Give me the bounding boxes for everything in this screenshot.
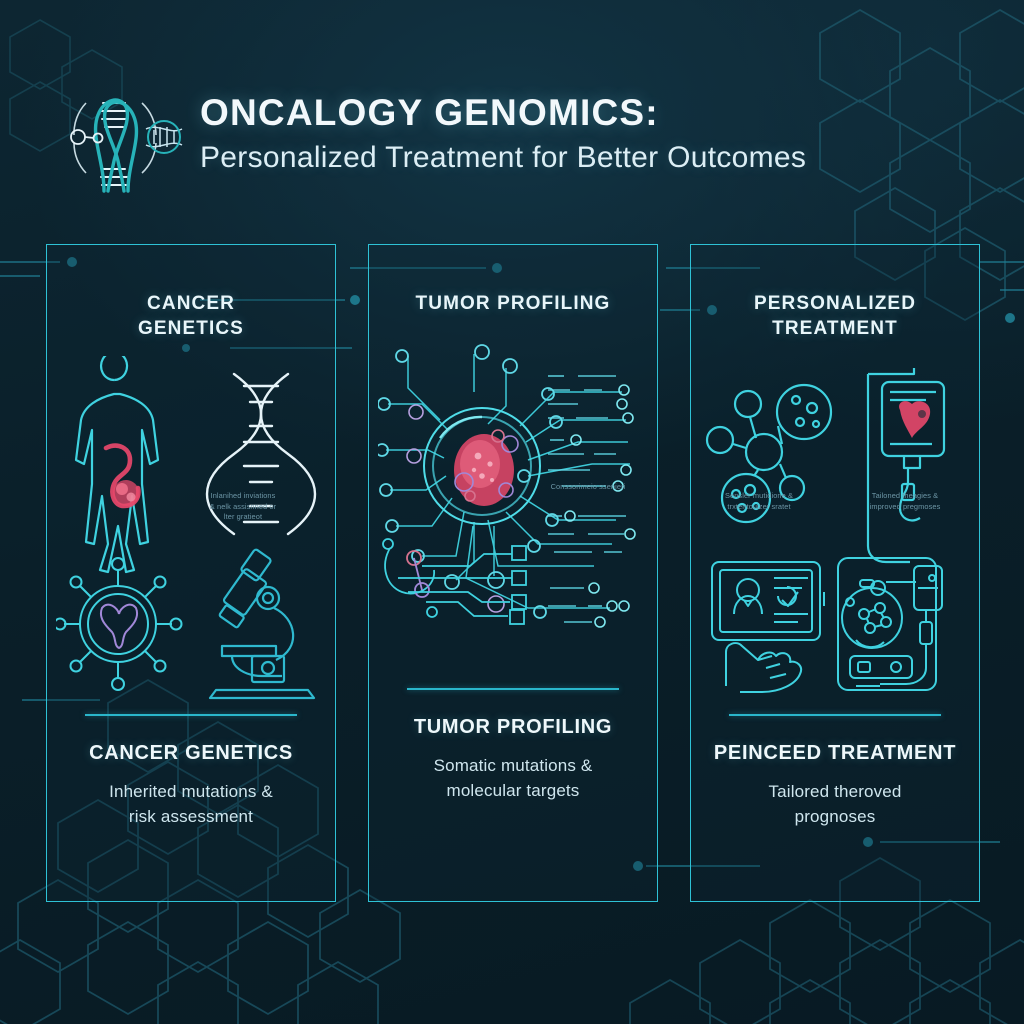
micro-caption-tumor-profiling: Conssorimeio ssenieri xyxy=(528,482,648,493)
iv-bag-fluid-shape xyxy=(899,401,930,438)
caption-body-cancer-genetics: Inherited mutations & risk assessment xyxy=(109,780,273,829)
page-title: ONCALOGY GENOMICS: xyxy=(200,94,806,133)
telemedicine-tablet-icon xyxy=(712,562,824,692)
micro-caption-cancer-genetics: Inlanihed inviations & nelk assisnned or… xyxy=(178,491,308,523)
title-block: ONCALOGY GENOMICS: Personalized Treatmen… xyxy=(200,94,806,181)
panel-tumor-profiling[interactable]: TUMOR PROFILING xyxy=(368,244,658,902)
stomach-tumor-shape xyxy=(106,446,139,506)
panel-header-cancer-genetics: CANCER GENETICS xyxy=(138,291,244,342)
caption-title-personalized-treatment: PEINCEED TREATMENT xyxy=(714,742,956,765)
panel-divider xyxy=(729,714,941,716)
header: ONCALOGY GENOMICS: Personalized Treatmen… xyxy=(0,72,1024,202)
caption-title-tumor-profiling: TUMOR PROFILING xyxy=(414,716,612,739)
micro-caption-right-personalized: Tailoned theagies & improved pregmoses xyxy=(840,491,970,512)
infusion-device-icon xyxy=(838,558,942,690)
iv-drip-bag-icon xyxy=(868,368,944,562)
panel-header-personalized-treatment: PERSONALIZED TREATMENT xyxy=(754,291,916,342)
panel-header-line-2: TREATMENT xyxy=(754,316,916,341)
panel-personalized-treatment[interactable]: PERSONALIZED TREATMENT xyxy=(690,244,980,902)
cancer-ribbon-dna-logo xyxy=(46,81,186,193)
caption-title-cancer-genetics: CANCER GENETICS xyxy=(89,742,293,765)
panel-divider xyxy=(85,714,297,716)
column-container: CANCER GENETICS xyxy=(46,244,980,902)
artwork-cancer-genetics: Inlanihed inviations & nelk assisnned or… xyxy=(56,356,326,706)
panel-header-line-2: GENETICS xyxy=(138,316,244,341)
artwork-tumor-profiling: Conssorimeio ssenieri xyxy=(378,330,648,680)
caption-body-personalized-treatment: Tailored theroved prognoses xyxy=(769,780,902,829)
receptor-inner-shape xyxy=(101,605,137,648)
cell-receptor-icon xyxy=(56,558,182,690)
caption-body-tumor-profiling: Somatic mutations & molecular targets xyxy=(434,754,593,803)
panel-divider xyxy=(407,688,619,690)
human-body-tumor-icon xyxy=(76,356,158,572)
panel-header-line-1: CANCER xyxy=(138,291,244,316)
page-subtitle: Personalized Treatment for Better Outcom… xyxy=(200,141,806,174)
panel-header-line-1: PERSONALIZED xyxy=(754,291,916,316)
artwork-personalized-treatment: Sensler mutidione & trxtentouizer sratet… xyxy=(700,356,970,706)
panel-header-line-1: TUMOR PROFILING xyxy=(416,291,611,316)
panel-cancer-genetics[interactable]: CANCER GENETICS xyxy=(46,244,336,902)
micro-caption-left-personalized: Sensler mutidione & trxtentouizer sratet xyxy=(694,491,824,512)
panel-header-tumor-profiling: TUMOR PROFILING xyxy=(416,291,611,316)
microscope-icon xyxy=(210,549,314,698)
